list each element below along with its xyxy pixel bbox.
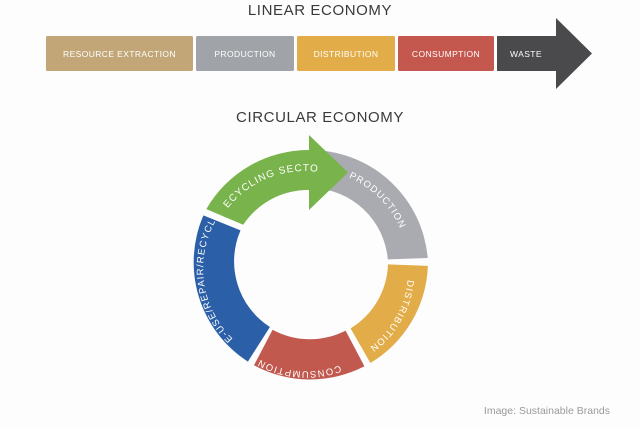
- linear-stage-label-resource-extraction: RESOURCE EXTRACTION: [63, 49, 176, 59]
- infographic-canvas: LINEAR ECONOMY RESOURCE EXTRACTION PRODU…: [0, 0, 640, 427]
- linear-stage-label-distribution: DISTRIBUTION: [314, 49, 379, 59]
- image-credit: Image: Sustainable Brands: [484, 405, 610, 417]
- linear-stage-label-waste: WASTE: [510, 49, 542, 59]
- linear-economy-title: LINEAR ECONOMY: [248, 2, 392, 19]
- linear-stage-label-consumption: CONSUMPTION: [412, 49, 480, 59]
- linear-stage-label-production: PRODUCTION: [214, 49, 275, 59]
- circular-economy-title: CIRCULAR ECONOMY: [236, 109, 404, 126]
